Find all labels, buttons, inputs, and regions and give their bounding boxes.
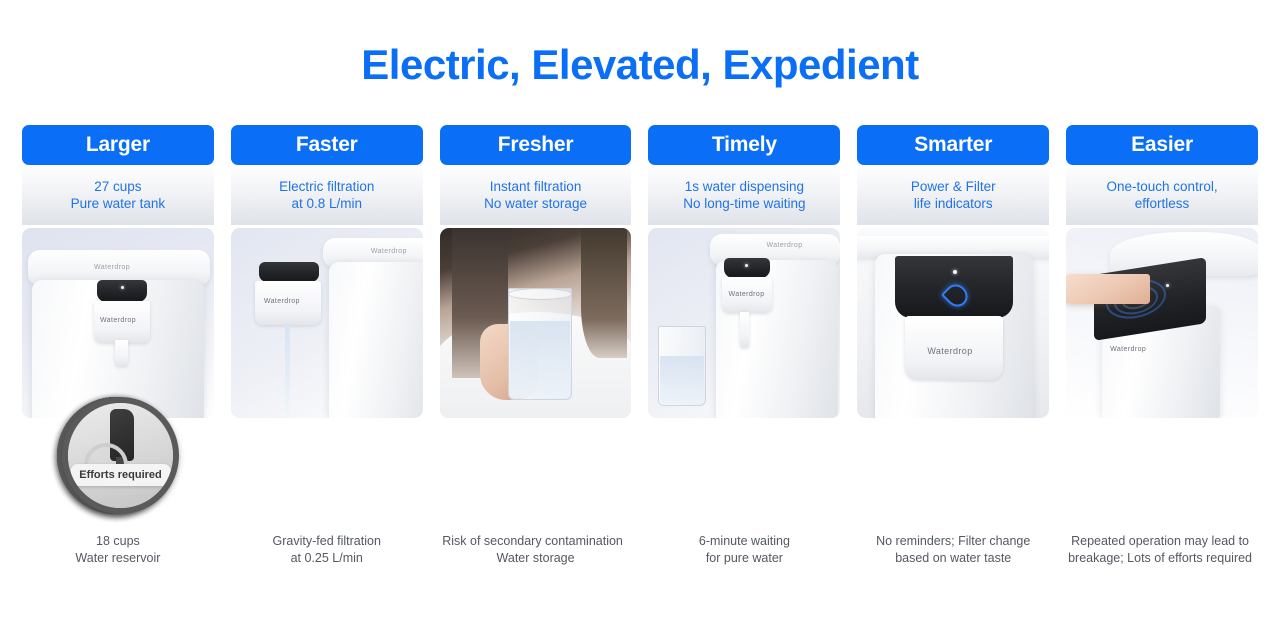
finger-pointer xyxy=(1066,274,1150,304)
column-larger: Larger 27 cups Pure water tank Waterdrop… xyxy=(22,125,214,418)
product-photo-timely: Waterdrop Waterdrop xyxy=(648,228,840,418)
caption-line-1: Risk of secondary contamination xyxy=(434,533,632,550)
caption-line-2: Water storage xyxy=(440,550,632,567)
product-photo-faster: Waterdrop Waterdrop xyxy=(231,228,423,418)
caption-fresher: Risk of secondary contamination Water st… xyxy=(440,533,632,567)
caption-line-1: 18 cups xyxy=(22,533,214,550)
brand-mark-spout: Waterdrop xyxy=(728,291,764,298)
subtitle-line-2: effortless xyxy=(1107,195,1218,213)
page-title: Electric, Elevated, Expedient xyxy=(0,40,1280,90)
subtitle-line-1: One-touch control, xyxy=(1107,178,1218,196)
caption-easier: Repeated operation may lead to breakage;… xyxy=(1066,533,1258,567)
subtitle-line-2: life indicators xyxy=(911,195,996,213)
subtitle-fresher: Instant filtration No water storage xyxy=(440,165,632,225)
subtitle-line-1: Instant filtration xyxy=(484,178,587,196)
brand-mark-spout: Waterdrop xyxy=(1110,346,1146,353)
header-pill-faster: Faster xyxy=(231,125,423,165)
caption-line-2: at 0.25 L/min xyxy=(231,550,423,567)
product-photo-easier: Waterdrop xyxy=(1066,228,1258,418)
caption-line-2: for pure water xyxy=(648,550,840,567)
product-photo-fresher xyxy=(440,228,632,418)
subtitle-line-2: at 0.8 L/min xyxy=(279,195,374,213)
brand-mark-top: Waterdrop xyxy=(766,242,802,249)
subtitle-larger: 27 cups Pure water tank xyxy=(22,165,214,225)
column-fresher: Fresher Instant filtration No water stor… xyxy=(440,125,632,418)
caption-line-2: breakage; Lots of efforts required xyxy=(1062,550,1258,567)
caption-line-1: No reminders; Filter change xyxy=(857,533,1049,550)
caption-faster: Gravity-fed filtration at 0.25 L/min xyxy=(231,533,423,567)
header-pill-larger: Larger xyxy=(22,125,214,165)
subtitle-easier: One-touch control, effortless xyxy=(1066,165,1258,225)
header-pill-easier: Easier xyxy=(1066,125,1258,165)
column-faster: Faster Electric filtration at 0.8 L/min … xyxy=(231,125,423,418)
infographic-root: Electric, Elevated, Expedient Larger 27 … xyxy=(0,0,1280,640)
brand-mark-spout: Waterdrop xyxy=(264,298,300,305)
caption-line-2: based on water taste xyxy=(857,550,1049,567)
inset-badge-easier: Efforts required xyxy=(62,397,179,514)
column-timely: Timely 1s water dispensing No long-time … xyxy=(648,125,840,418)
subtitle-smarter: Power & Filter life indicators xyxy=(857,165,1049,225)
column-smarter: Smarter Power & Filter life indicators W… xyxy=(857,125,1049,418)
caption-larger: 18 cups Water reservoir xyxy=(22,533,214,567)
brand-mark-top: Waterdrop xyxy=(371,248,407,255)
inset-badge-label-easier: Efforts required xyxy=(70,464,171,486)
subtitle-line-2: Pure water tank xyxy=(71,195,166,213)
caption-smarter: No reminders; Filter change based on wat… xyxy=(857,533,1049,567)
bottom-captions: 18 cups Water reservoir Gravity-fed filt… xyxy=(22,533,1258,567)
subtitle-line-1: 27 cups xyxy=(71,178,166,196)
subtitle-line-1: Power & Filter xyxy=(911,178,996,196)
caption-timely: 6-minute waiting for pure water xyxy=(648,533,840,567)
subtitle-faster: Electric filtration at 0.8 L/min xyxy=(231,165,423,225)
header-pill-fresher: Fresher xyxy=(440,125,632,165)
subtitle-line-1: Electric filtration xyxy=(279,178,374,196)
brand-mark-spout: Waterdrop xyxy=(100,317,136,324)
caption-line-2: Water reservoir xyxy=(22,550,214,567)
header-pill-smarter: Smarter xyxy=(857,125,1049,165)
comparison-columns: Larger 27 cups Pure water tank Waterdrop… xyxy=(22,125,1258,418)
header-pill-timely: Timely xyxy=(648,125,840,165)
subtitle-line-1: 1s water dispensing xyxy=(683,178,805,196)
brand-mark-top: Waterdrop xyxy=(94,264,130,271)
product-photo-smarter: Waterdrop xyxy=(857,228,1049,418)
subtitle-timely: 1s water dispensing No long-time waiting xyxy=(648,165,840,225)
caption-line-1: Repeated operation may lead to xyxy=(1062,533,1258,550)
caption-line-1: 6-minute waiting xyxy=(648,533,840,550)
caption-line-1: Gravity-fed filtration xyxy=(231,533,423,550)
subtitle-line-2: No long-time waiting xyxy=(683,195,805,213)
product-photo-larger: Waterdrop Waterdrop xyxy=(22,228,214,418)
column-easier: Easier One-touch control, effortless Wat… xyxy=(1066,125,1258,418)
subtitle-line-2: No water storage xyxy=(484,195,587,213)
brand-mark-spout: Waterdrop xyxy=(927,346,972,356)
